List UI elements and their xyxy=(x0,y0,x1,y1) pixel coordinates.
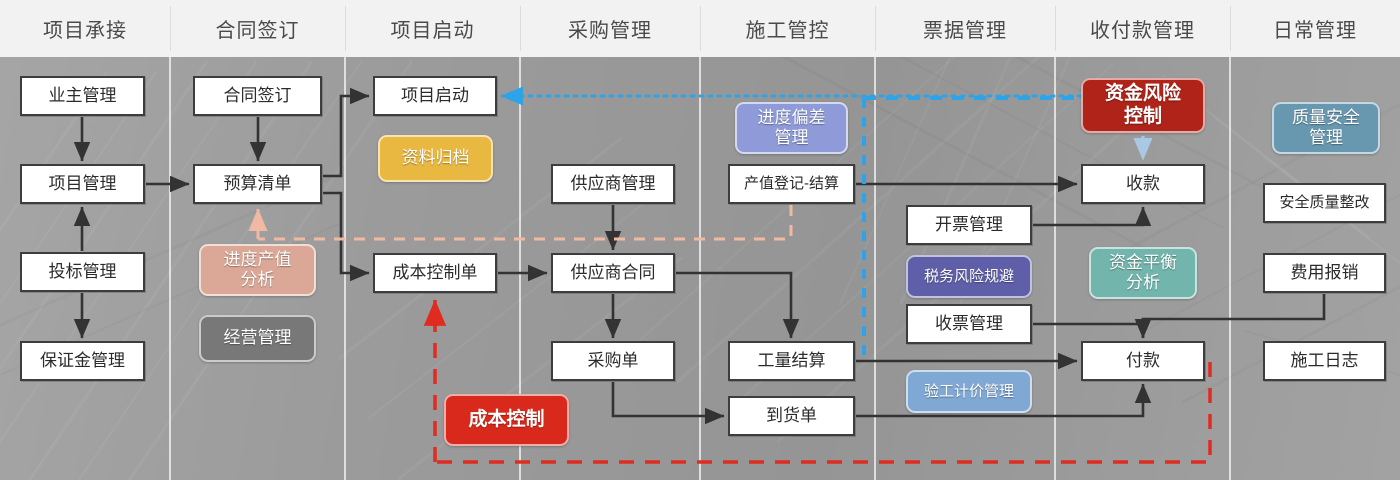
node-fukuan[interactable]: 付款 xyxy=(1081,341,1205,381)
node-label: 投标管理 xyxy=(49,262,117,282)
column-header-3: 采购管理 xyxy=(520,0,700,57)
node-yusuan-qingdan[interactable]: 预算清单 xyxy=(193,164,322,204)
header-divider xyxy=(1055,6,1056,51)
node-xiangmu-qidong[interactable]: 项目启动 xyxy=(373,76,497,116)
node-jindu-piancha-guanli[interactable]: 进度偏差 管理 xyxy=(735,102,848,154)
node-kaipiao-guanli[interactable]: 开票管理 xyxy=(906,205,1032,245)
node-label: 产值登记-结算 xyxy=(744,175,839,193)
node-caigoudan[interactable]: 采购单 xyxy=(551,341,675,381)
node-label: 保证金管理 xyxy=(40,351,125,371)
node-gongliang-jiesuan[interactable]: 工量结算 xyxy=(728,341,855,381)
edge-kaipiao-to-shoukuan xyxy=(1033,207,1143,225)
node-label: 进度偏差 管理 xyxy=(758,108,826,148)
node-label: 资金平衡 分析 xyxy=(1109,253,1177,293)
node-yangong-jijia-guanli[interactable]: 验工计价管理 xyxy=(906,370,1032,413)
node-label: 付款 xyxy=(1126,351,1160,371)
column-header-label: 日常管理 xyxy=(1273,14,1357,43)
header-divider xyxy=(700,6,701,51)
column-header-label: 项目承接 xyxy=(43,14,127,43)
column-header-1: 合同签订 xyxy=(170,0,345,57)
edge-dashed-pink-run xyxy=(258,205,791,239)
column-header-2: 项目启动 xyxy=(345,0,520,57)
node-chengben-kongzhi[interactable]: 成本控制 xyxy=(444,394,569,446)
header-divider xyxy=(1230,6,1231,51)
header-divider xyxy=(520,6,521,51)
flowchart-root: 项目承接 合同签订 项目启动 采购管理 施工管控 票据管理 收付款管理 日常管理 xyxy=(0,0,1400,480)
node-label: 资料归档 xyxy=(402,148,470,168)
edge-gysht-to-gljs xyxy=(676,273,791,338)
column-header-label: 票据管理 xyxy=(923,14,1007,43)
node-anquan-zhiliang-zhenggai[interactable]: 安全质量整改 xyxy=(1263,183,1386,223)
node-shuiwu-fengxian-guibi[interactable]: 税务风险规避 xyxy=(906,255,1032,298)
node-label: 进度产值 分析 xyxy=(224,250,292,290)
node-gongyingshang-guanli[interactable]: 供应商管理 xyxy=(551,164,675,204)
edge-yusuan-to-qidong xyxy=(323,96,369,176)
edge-yusuan-to-chengbendan xyxy=(323,193,369,273)
node-label: 开票管理 xyxy=(935,215,1003,235)
column-header-label: 施工管控 xyxy=(746,14,830,43)
node-ziliao-guidang[interactable]: 资料归档 xyxy=(378,135,493,182)
node-shoukuan[interactable]: 收款 xyxy=(1081,164,1205,204)
node-shigong-rizhi[interactable]: 施工日志 xyxy=(1263,341,1386,381)
node-label: 到货单 xyxy=(766,406,817,426)
node-jingying-guanli[interactable]: 经营管理 xyxy=(199,315,316,362)
node-label: 费用报销 xyxy=(1291,263,1359,283)
node-zijin-pingheng-fenxi[interactable]: 资金平衡 分析 xyxy=(1089,247,1197,299)
column-header-6: 收付款管理 xyxy=(1055,0,1230,57)
node-yezhu-guanli[interactable]: 业主管理 xyxy=(20,76,145,116)
node-hetong-qianding[interactable]: 合同签订 xyxy=(193,76,322,116)
column-header-label: 项目启动 xyxy=(391,14,475,43)
node-zijin-fengxian-kongzhi[interactable]: 资金风险 控制 xyxy=(1081,78,1205,133)
node-chanzhi-dengji-jiesuan[interactable]: 产值登记-结算 xyxy=(728,164,855,204)
column-header-0: 项目承接 xyxy=(0,0,170,57)
node-label: 收款 xyxy=(1126,174,1160,194)
node-label: 预算清单 xyxy=(224,174,292,194)
column-header-label: 采购管理 xyxy=(568,14,652,43)
node-label: 施工日志 xyxy=(1291,351,1359,371)
diagram-canvas: 业主管理 项目管理 投标管理 保证金管理 合同签订 预算清单 进度产值 分析 经… xyxy=(0,57,1400,480)
header-divider xyxy=(345,6,346,51)
node-toubiao-guanli[interactable]: 投标管理 xyxy=(20,252,145,292)
node-label: 收票管理 xyxy=(935,314,1003,334)
node-feiyong-baoxiao[interactable]: 费用报销 xyxy=(1263,253,1386,293)
column-header-label: 收付款管理 xyxy=(1090,14,1195,43)
node-daohuodan[interactable]: 到货单 xyxy=(728,396,855,436)
edge-feiyong-to-fukuan xyxy=(1143,294,1324,338)
header-divider xyxy=(875,6,876,51)
node-shoupiao-guanli[interactable]: 收票管理 xyxy=(906,304,1032,344)
column-header-bar: 项目承接 合同签订 项目启动 采购管理 施工管控 票据管理 收付款管理 日常管理 xyxy=(0,0,1400,57)
node-label: 项目管理 xyxy=(49,174,117,194)
node-gongyingshang-hetong[interactable]: 供应商合同 xyxy=(551,253,675,293)
column-header-7: 日常管理 xyxy=(1230,0,1400,57)
node-label: 资金风险 控制 xyxy=(1105,83,1181,128)
node-label: 质量安全 管理 xyxy=(1292,108,1360,148)
node-label: 税务风险规避 xyxy=(924,268,1014,286)
node-baozhengjin-guanli[interactable]: 保证金管理 xyxy=(20,341,145,381)
node-label: 项目启动 xyxy=(401,86,469,106)
edge-shoupiao-to-fukuan xyxy=(1033,324,1143,338)
edge-caigoudan-to-daohuodan xyxy=(613,382,724,416)
node-chengben-kongzhidan[interactable]: 成本控制单 xyxy=(373,253,497,293)
node-xiangmu-guanli[interactable]: 项目管理 xyxy=(20,164,145,204)
node-label: 合同签订 xyxy=(224,86,292,106)
node-label: 工量结算 xyxy=(758,351,826,371)
node-label: 成本控制 xyxy=(468,409,544,431)
node-zhiliang-anquan-guanli[interactable]: 质量安全 管理 xyxy=(1272,102,1380,154)
node-label: 供应商合同 xyxy=(571,263,656,283)
node-label: 业主管理 xyxy=(49,86,117,106)
header-divider xyxy=(170,6,171,51)
node-label: 安全质量整改 xyxy=(1279,194,1369,212)
node-label: 经营管理 xyxy=(224,328,292,348)
node-label: 供应商管理 xyxy=(571,174,656,194)
node-jindu-chanzhi-fenxi[interactable]: 进度产值 分析 xyxy=(199,244,316,296)
column-header-4: 施工管控 xyxy=(700,0,875,57)
column-header-label: 合同签订 xyxy=(216,14,300,43)
node-label: 验工计价管理 xyxy=(924,383,1014,401)
node-label: 采购单 xyxy=(588,351,639,371)
node-label: 成本控制单 xyxy=(393,263,478,283)
column-header-5: 票据管理 xyxy=(875,0,1055,57)
